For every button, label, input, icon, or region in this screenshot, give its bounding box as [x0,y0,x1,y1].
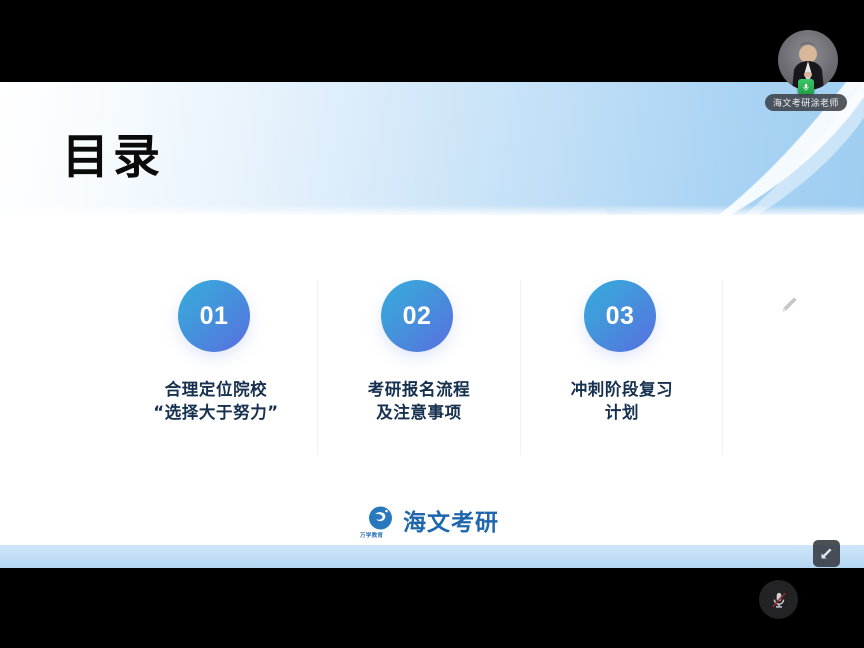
slide-footer-band [0,545,864,568]
toc-item-03[interactable]: 03 冲刺阶段复习 计划 [520,280,723,455]
toc-columns: 01 合理定位院校 “选择大于努力” 02 考研报名流程 及注意事项 [115,280,723,455]
fullscreen-resize-icon [819,546,834,561]
toc-label-01-line1: 合理定位院校 [153,378,279,401]
number-badge-02: 02 [381,280,453,352]
badge-wrap-01: 01 [178,280,254,356]
toc-label-01-line2: “选择大于努力” [153,401,279,424]
mic-toggle-button[interactable] [759,580,798,619]
video-player: 目录 01 合理定位院校 “选择大于努力” 02 考 [0,0,864,648]
toc-label-02: 考研报名流程 及注意事项 [368,378,471,425]
toc-label-03-line1: 冲刺阶段复习 [571,378,674,401]
fullscreen-button[interactable] [813,540,840,567]
number-badge-03: 03 [584,280,656,352]
presenter-mic-indicator [798,79,814,95]
logo-sub-brand: 万学教育 [360,531,383,539]
logo-mark-icon: 万学教育 [365,505,396,536]
pencil-cursor-icon [780,296,798,314]
toc-label-03-line2: 计划 [571,401,674,424]
toc-item-02[interactable]: 02 考研报名流程 及注意事项 [317,280,520,455]
badge-wrap-03: 03 [584,280,660,356]
toc-item-01[interactable]: 01 合理定位院校 “选择大于努力” [115,280,317,455]
logo-brand-text: 海文考研 [403,503,499,537]
toc-label-02-line2: 及注意事项 [368,401,471,424]
page-title: 目录 [62,118,164,187]
fan-decoration [604,207,656,215]
badge-wrap-02: 02 [381,280,457,356]
toc-label-02-line1: 考研报名流程 [368,378,471,401]
microphone-muted-icon [769,590,789,610]
slide-header: 目录 [0,82,864,215]
toc-label-03: 冲刺阶段复习 计划 [571,378,674,425]
presentation-slide: 目录 01 合理定位院校 “选择大于努力” 02 考 [0,82,864,568]
number-badge-01: 01 [178,280,250,352]
toc-label-01: 合理定位院校 “选择大于努力” [153,378,279,425]
brand-logo: 万学教育 海文考研 [0,503,864,537]
presenter-name-label: 海文考研涂老师 [765,94,847,111]
